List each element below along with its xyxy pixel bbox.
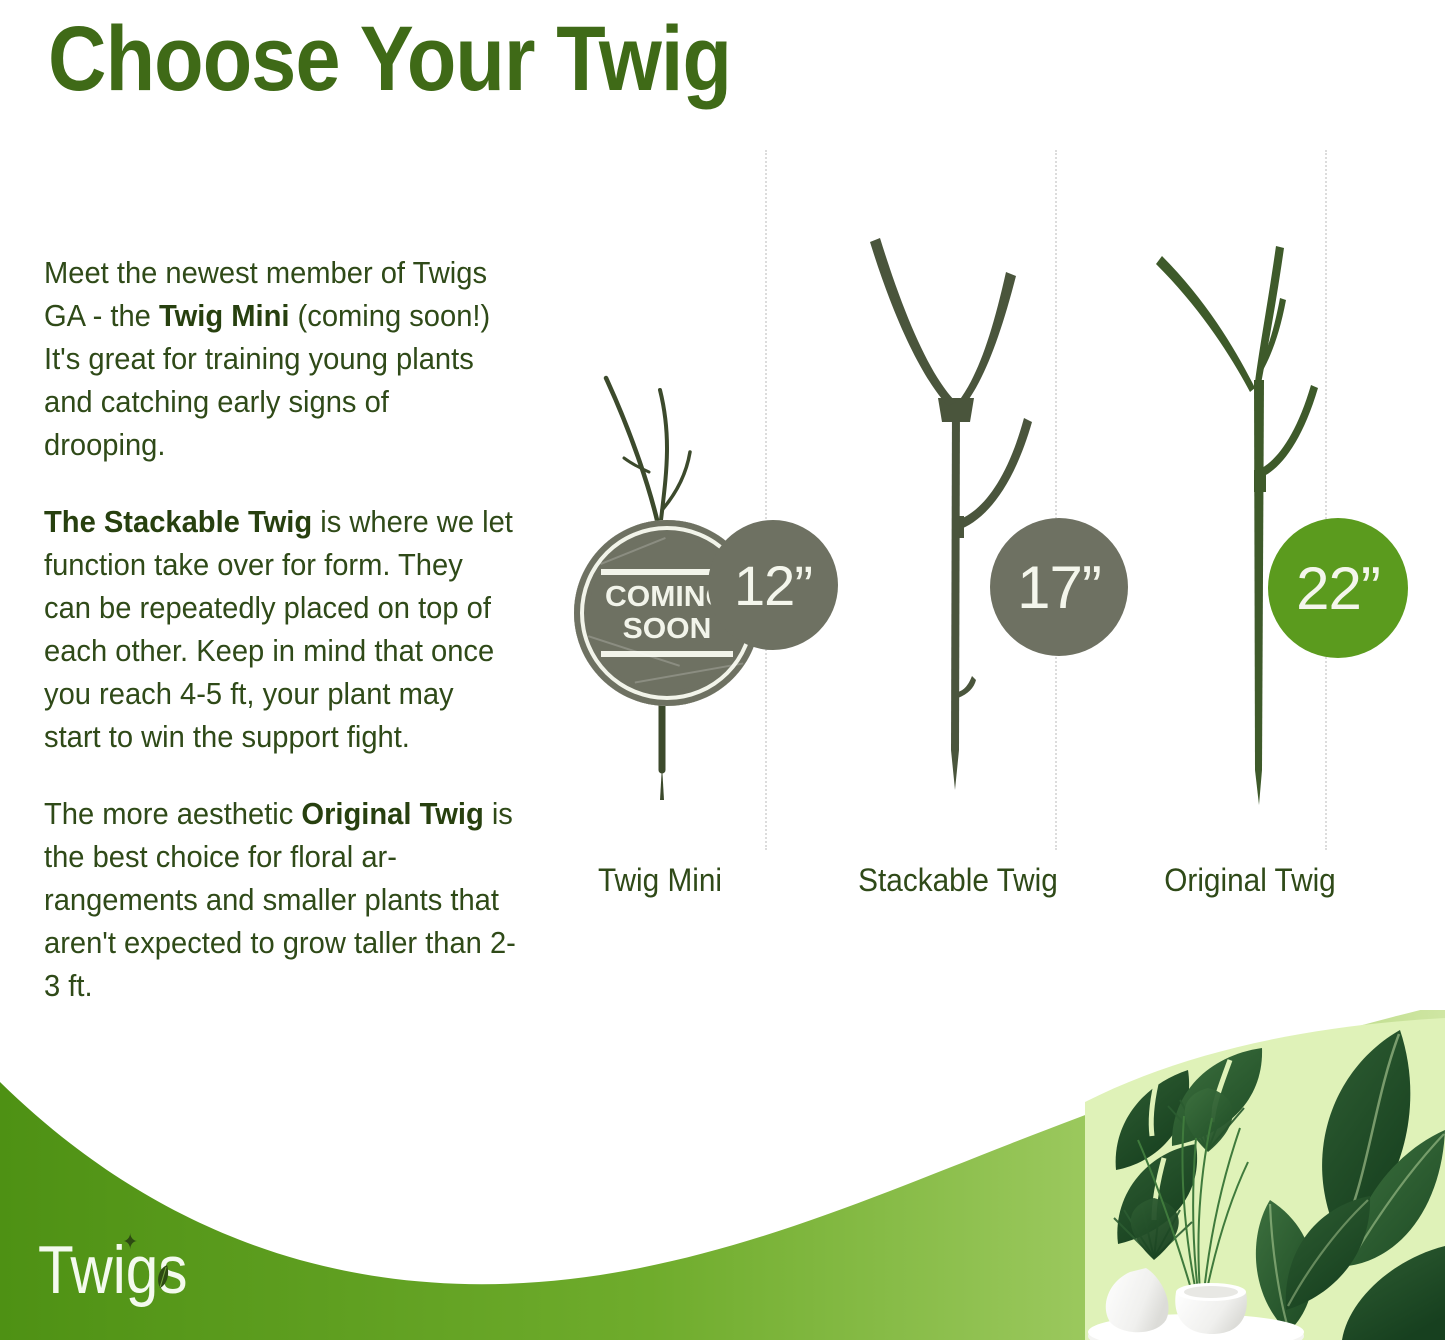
guide-line-twig-mini xyxy=(765,150,767,850)
product-label-stackable-twig: Stackable Twig xyxy=(837,862,1079,899)
paragraph-2-bold: The Stackable Twig xyxy=(44,505,312,539)
product-label-original-twig: Original Twig xyxy=(1129,862,1371,899)
bottom-wave-band: Twigs ✦ xyxy=(0,1010,1445,1340)
stamp-scratch xyxy=(600,537,666,565)
infographic-page: Choose Your Twig Meet the newest member … xyxy=(0,0,1445,1340)
coming-soon-rule-bottom xyxy=(601,651,733,657)
paragraph-1-bold: Twig Mini xyxy=(159,299,290,333)
paragraph-3-bold: Original Twig xyxy=(301,797,483,831)
stackable-twig-figure xyxy=(860,230,1060,810)
size-badge-twig-mini: 12” xyxy=(708,520,838,650)
copy-column: Meet the newest member of Twigs GA - the… xyxy=(44,252,540,1008)
paragraph-original-twig: The more aesthetic Original Twig is the … xyxy=(44,793,518,1008)
star-icon: ✦ xyxy=(122,1234,136,1250)
paragraph-3-part-1: The more aesthetic xyxy=(44,797,301,831)
paragraph-stackable-twig: The Stackable Twig is where we let funct… xyxy=(44,501,518,759)
size-badge-original-twig: 22” xyxy=(1268,518,1408,658)
product-comparison: COMING SOON 12” xyxy=(560,120,1440,920)
coming-soon-line-2: SOON xyxy=(598,613,735,645)
page-title: Choose Your Twig xyxy=(48,6,731,112)
leaf-icon xyxy=(156,1264,170,1290)
stamp-scratch xyxy=(635,662,744,683)
size-badge-stackable-twig: 17” xyxy=(990,518,1128,656)
paragraph-2-part-2: is where we let function take over for f… xyxy=(44,505,513,754)
plant-photo xyxy=(1085,1010,1445,1340)
product-label-twig-mini: Twig Mini xyxy=(567,862,753,899)
original-twig-figure xyxy=(1150,140,1380,820)
brand-logo: Twigs ✦ xyxy=(38,1236,187,1304)
paragraph-twig-mini: Meet the newest member of Twigs GA - the… xyxy=(44,252,518,467)
